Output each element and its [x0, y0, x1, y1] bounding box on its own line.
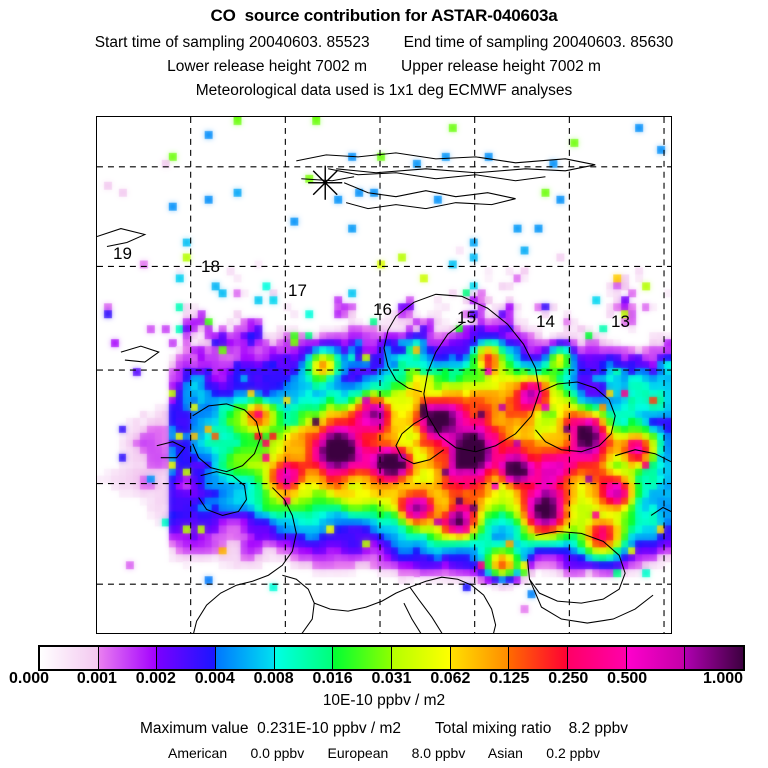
colorbar-segment-1 — [99, 647, 158, 669]
coastline-1 — [328, 169, 545, 181]
coastline-9 — [535, 382, 615, 452]
start-time-label: Start time of sampling 20040603. 85523 — [95, 34, 370, 51]
colorbar-ticks: 0.0000.0010.0020.0040.0080.0160.0310.062… — [0, 670, 768, 690]
coastline-2 — [344, 183, 515, 209]
coastline-13 — [237, 488, 297, 586]
coastline-17 — [404, 587, 460, 633]
colorbar-segment-10 — [627, 647, 686, 669]
release-point-asterisk-icon — [308, 166, 342, 200]
colorbar-units-label: 10E-10 ppbv / m2 — [0, 692, 768, 710]
colorbar-segment-5 — [333, 647, 392, 669]
map-overlay — [97, 117, 671, 633]
coastline-14 — [193, 585, 237, 633]
colorbar-tick-4: 0.008 — [254, 670, 294, 688]
total-label: Total mixing ratio — [435, 720, 551, 737]
asian-value: 0.2 ppbv — [546, 745, 600, 761]
colorbar-tick-3: 0.004 — [195, 670, 235, 688]
map-plot-area: 19181716151413 — [96, 116, 672, 634]
maximum-value: 0.231E-10 ppbv / m2 — [257, 720, 401, 737]
colorbar — [38, 645, 745, 671]
coastline-12 — [157, 442, 185, 458]
colorbar-segment-0 — [40, 647, 99, 669]
maximum-label: Maximum value — [140, 720, 249, 737]
statistics-row-regions: American 0.0 ppbv European 8.0 ppbv Asia… — [0, 745, 768, 761]
colorbar-tick-11: 1.000 — [703, 670, 743, 688]
trajectory-label-13: 13 — [611, 313, 630, 330]
colorbar-tick-7: 0.062 — [430, 670, 470, 688]
upper-release-label: Upper release height 7002 m — [401, 58, 601, 75]
colorbar-segment-8 — [509, 647, 568, 669]
american-label: American — [168, 745, 227, 761]
coastline-11 — [199, 472, 247, 516]
sampling-time-row: Start time of sampling 20040603. 85523En… — [0, 34, 768, 52]
colorbar-tick-6: 0.031 — [371, 670, 411, 688]
colorbar-tick-9: 0.250 — [548, 670, 588, 688]
colorbar-segment-6 — [392, 647, 451, 669]
page-title: CO source contribution for ASTAR-040603a — [0, 6, 768, 26]
coastline-5 — [121, 346, 159, 362]
colorbar-tick-2: 0.002 — [136, 670, 176, 688]
european-label: European — [328, 745, 389, 761]
meteorology-label: Meteorological data used is 1x1 deg ECMW… — [0, 82, 768, 100]
colorbar-segment-3 — [216, 647, 275, 669]
trajectory-label-17: 17 — [288, 282, 307, 299]
european-value: 8.0 ppbv — [412, 745, 466, 761]
trajectory-label-16: 16 — [373, 301, 392, 318]
trajectory-label-14: 14 — [536, 313, 555, 330]
trajectory-label-19: 19 — [113, 245, 132, 262]
coastline-8 — [396, 416, 444, 464]
colorbar-tick-0: 0.000 — [9, 670, 49, 688]
coastline-25 — [615, 450, 671, 462]
lower-release-label: Lower release height 7002 m — [167, 58, 367, 75]
colorbar-segment-11 — [685, 647, 743, 669]
colorbar-tick-8: 0.125 — [489, 670, 529, 688]
american-value: 0.0 ppbv — [250, 745, 304, 761]
coastline-7 — [384, 316, 422, 392]
coastline-21 — [528, 531, 626, 603]
trajectory-label-15: 15 — [457, 309, 476, 326]
end-time-label: End time of sampling 20040603. 85630 — [404, 34, 674, 51]
total-value: 8.2 ppbv — [569, 720, 628, 737]
colorbar-segment-4 — [275, 647, 334, 669]
coastline-10 — [193, 404, 261, 472]
coastline-0 — [296, 153, 595, 173]
coastline-16 — [314, 587, 410, 611]
colorbar-segment-2 — [157, 647, 216, 669]
colorbar-tick-5: 0.016 — [313, 670, 353, 688]
colorbar-segment-9 — [568, 647, 627, 669]
colorbar-tick-10: 0.500 — [607, 670, 647, 688]
asian-label: Asian — [488, 745, 523, 761]
trajectory-label-18: 18 — [201, 258, 220, 275]
statistics-row-primary: Maximum value 0.231E-10 ppbv / m2Total m… — [0, 720, 768, 738]
release-height-row: Lower release height 7002 mUpper release… — [0, 58, 768, 76]
coastline-24 — [651, 507, 671, 515]
colorbar-tick-1: 0.001 — [77, 670, 117, 688]
colorbar-segment-7 — [451, 647, 510, 669]
